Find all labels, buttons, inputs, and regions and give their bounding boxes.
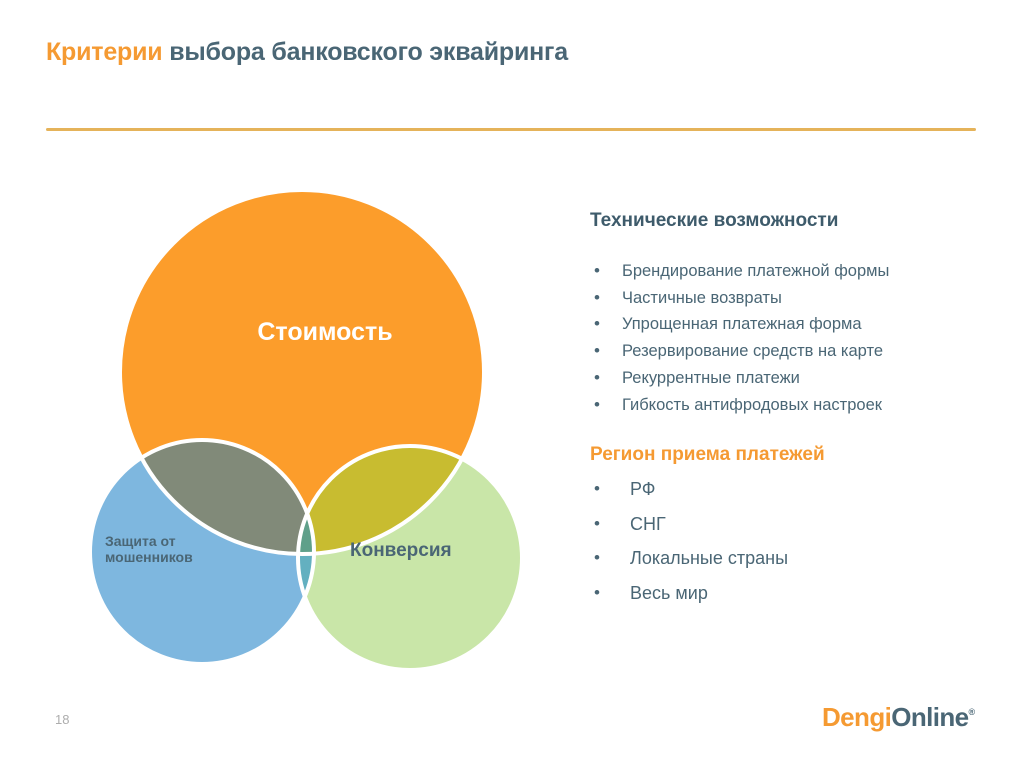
page-number: 18: [55, 712, 69, 727]
list-item: Упрощенная платежная форма: [590, 311, 990, 338]
list-item: Гибкость антифродовых настроек: [590, 392, 990, 419]
list-item: Весь мир: [590, 576, 990, 611]
tech-bullet-list: Брендирование платежной формы Частичные …: [590, 258, 990, 418]
regions-bullet-list: РФ СНГ Локальные страны Весь мир: [590, 472, 990, 610]
venn-diagram: Стоимость Защита от мошенников Конверсия: [80, 178, 550, 688]
regions-section-heading: Регион приема платежей: [590, 444, 990, 466]
list-item: РФ: [590, 472, 990, 507]
page-title: Критерии выбора банковского эквайринга: [46, 38, 568, 67]
tech-section-heading: Технические возможности: [590, 210, 990, 232]
content-column: Технические возможности Брендирование пл…: [590, 210, 990, 611]
list-item: Частичные возвраты: [590, 285, 990, 312]
logo-part-online: Online: [891, 702, 968, 732]
logo-part-dengi: Dengi: [822, 702, 891, 732]
venn-svg: [80, 178, 550, 688]
list-item: СНГ: [590, 507, 990, 542]
title-divider: [46, 128, 976, 131]
slide-canvas: Критерии выбора банковского эквайринга: [0, 0, 1024, 768]
list-item: Резервирование средств на карте: [590, 338, 990, 365]
logo-registered-icon: ®: [969, 707, 975, 717]
dengionline-logo: DengiOnline®: [822, 702, 975, 733]
list-item: Рекуррентные платежи: [590, 365, 990, 392]
list-item: Локальные страны: [590, 541, 990, 576]
list-item: Брендирование платежной формы: [590, 258, 990, 285]
page-title-rest: выбора банковского эквайринга: [162, 38, 568, 66]
page-title-accent: Критерии: [46, 38, 162, 66]
section-spacer: [590, 418, 990, 444]
